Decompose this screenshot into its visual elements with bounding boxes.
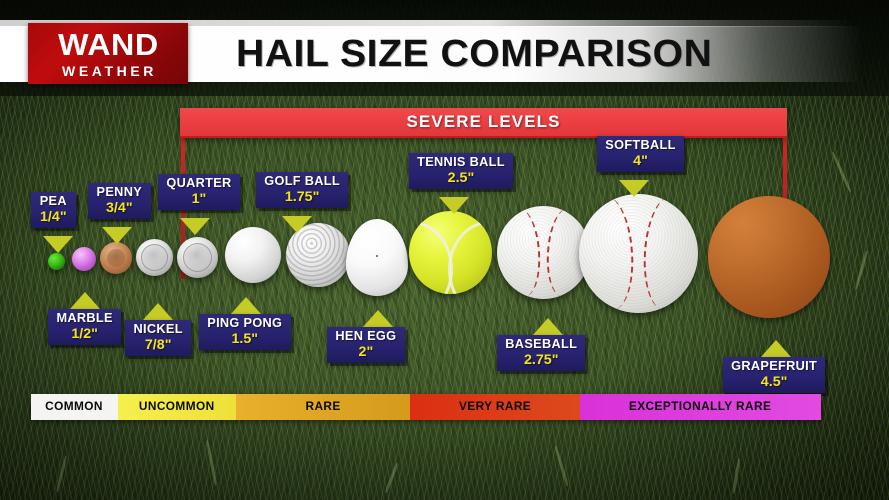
rarity-label: UNCOMMON <box>139 401 215 413</box>
softball-hail-object <box>579 194 698 313</box>
callout-name: BASEBALL <box>505 338 577 352</box>
callout-hen-egg[interactable]: HEN EGG 2" <box>327 310 405 363</box>
rarity-scale: COMMON UNCOMMON RARE VERY RARE EXCEPTION… <box>31 394 821 420</box>
callout-pointer-up-icon <box>363 310 393 327</box>
callout-box: SOFTBALL 4" <box>597 136 684 172</box>
severe-levels-banner: SEVERE LEVELS <box>180 108 787 138</box>
callout-box: QUARTER 1" <box>158 174 240 210</box>
callout-size: 1/2" <box>56 326 112 341</box>
callout-pointer-up-icon <box>533 318 563 335</box>
callout-name: GOLF BALL <box>264 175 340 189</box>
severe-levels-label: SEVERE LEVELS <box>406 112 560 132</box>
rarity-label: VERY RARE <box>459 401 531 413</box>
rarity-segment-very-rare[interactable]: VERY RARE <box>410 394 580 420</box>
callout-size: 1/4" <box>40 209 67 224</box>
callout-box: PEA 1/4" <box>31 192 76 228</box>
callout-name: TENNIS BALL <box>417 156 505 170</box>
callout-softball[interactable]: SOFTBALL 4" <box>597 136 684 172</box>
rarity-segment-common[interactable]: COMMON <box>31 394 118 420</box>
callout-name: PING PONG <box>207 317 282 331</box>
callout-quarter[interactable]: QUARTER 1" <box>158 174 240 210</box>
page-title: HAIL SIZE COMPARISON <box>236 28 712 80</box>
nickel-hail-object <box>136 239 173 276</box>
callout-box: MARBLE 1/2" <box>48 309 121 345</box>
tennis-ball-hail-object <box>409 211 492 294</box>
callout-golf-ball[interactable]: GOLF BALL 1.75" <box>256 172 348 208</box>
callout-tennis-ball[interactable]: TENNIS BALL 2.5" <box>409 153 513 189</box>
callout-size: 1.5" <box>207 331 282 346</box>
callout-box: NICKEL 7/8" <box>125 320 191 356</box>
callout-box: GRAPEFRUIT 4.5" <box>723 357 825 393</box>
callout-size: 2.75" <box>505 352 577 367</box>
callout-box: PING PONG 1.5" <box>199 314 291 350</box>
tennis-seam-icon <box>409 221 453 294</box>
rarity-label: COMMON <box>46 401 104 413</box>
ping-pong-hail-object <box>225 227 281 283</box>
callout-baseball[interactable]: BASEBALL 2.75" <box>497 318 585 371</box>
callout-name: SOFTBALL <box>605 139 675 153</box>
callout-size: 4.5" <box>731 374 817 389</box>
callout-nickel[interactable]: NICKEL 7/8" <box>125 303 191 356</box>
callout-box: PENNY 3/4" <box>88 183 151 219</box>
baseball-hail-object <box>497 206 590 299</box>
hail-size-comparison-graphic: HAIL SIZE COMPARISON WAND WEATHER SEVERE… <box>0 0 889 500</box>
callout-ping-pong[interactable]: PING PONG 1.5" <box>199 297 291 350</box>
logo-sub-text: WEATHER <box>59 64 157 78</box>
callout-box: HEN EGG 2" <box>327 327 405 363</box>
rarity-segment-uncommon[interactable]: UNCOMMON <box>118 394 237 420</box>
rarity-label: RARE <box>306 401 341 413</box>
callout-name: HEN EGG <box>335 330 396 344</box>
callout-pointer-down-icon <box>439 197 469 214</box>
callout-pea[interactable]: PEA 1/4" <box>31 192 76 228</box>
callout-pointer-down-icon <box>180 218 210 235</box>
callout-marble[interactable]: MARBLE 1/2" <box>48 292 121 345</box>
callout-size: 3/4" <box>97 200 142 215</box>
callout-grapefruit[interactable]: GRAPEFRUIT 4.5" <box>723 340 825 393</box>
callout-pointer-up-icon <box>70 292 100 309</box>
rarity-segment-exceptionally-rare[interactable]: EXCEPTIONALLY RARE <box>580 394 821 420</box>
rarity-label: EXCEPTIONALLY RARE <box>629 401 771 413</box>
wand-weather-logo: WAND WEATHER <box>28 23 188 84</box>
callout-box: BASEBALL 2.75" <box>497 335 585 371</box>
callout-name: NICKEL <box>134 323 183 337</box>
callout-pointer-up-icon <box>143 303 173 320</box>
callout-box: TENNIS BALL 2.5" <box>409 153 513 189</box>
tennis-seam-icon <box>448 221 492 294</box>
callout-pointer-up-icon <box>231 297 261 314</box>
callout-name: GRAPEFRUIT <box>731 360 817 374</box>
callout-size: 7/8" <box>134 337 183 352</box>
callout-size: 2.5" <box>417 170 505 185</box>
callout-name: PEA <box>40 195 67 209</box>
callout-name: PENNY <box>97 186 142 200</box>
grapefruit-hail-object <box>708 196 830 318</box>
pea-hail-object <box>48 253 65 270</box>
callout-name: MARBLE <box>56 312 112 326</box>
callout-pointer-up-icon <box>761 340 791 357</box>
penny-hail-object <box>100 242 132 274</box>
callout-size: 4" <box>605 153 675 168</box>
callout-size: 1" <box>166 191 231 206</box>
marble-hail-object <box>72 247 96 271</box>
callout-box: GOLF BALL 1.75" <box>256 172 348 208</box>
callout-pointer-down-icon <box>282 216 312 233</box>
callout-pointer-down-icon <box>619 180 649 197</box>
callout-size: 2" <box>335 344 396 359</box>
callout-size: 1.75" <box>264 189 340 204</box>
callout-pointer-down-icon <box>102 227 132 244</box>
logo-main-text: WAND <box>58 29 159 60</box>
quarter-hail-object <box>177 237 218 278</box>
callout-pointer-down-icon <box>43 236 73 253</box>
callout-penny[interactable]: PENNY 3/4" <box>88 183 151 219</box>
rarity-segment-rare[interactable]: RARE <box>236 394 410 420</box>
callout-name: QUARTER <box>166 177 231 191</box>
